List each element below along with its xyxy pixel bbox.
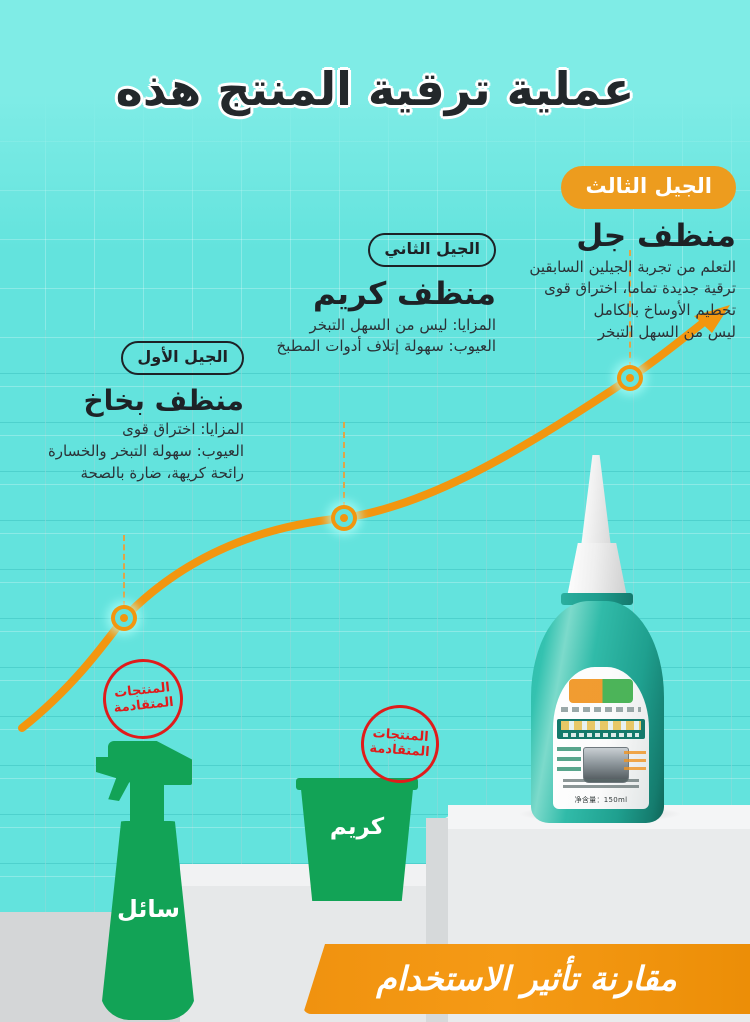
generation-3-badge-wrap: الجيل الثالث <box>498 166 736 209</box>
generation-2-line-1: المزايا: ليس من السهل التبخر <box>246 315 496 337</box>
obsolete-stamp-2-line-2: المتقادمة <box>369 741 430 760</box>
gel-label-bullets <box>557 747 581 777</box>
generation-1-line-2: العيوب: سهولة التبخر والخسارة <box>14 441 244 463</box>
spray-bottle-label: سائل <box>86 895 211 923</box>
gel-label-footnotes <box>563 779 639 789</box>
gel-label-title-en <box>563 733 639 737</box>
gel-bottle-tip <box>581 455 611 547</box>
gel-bottle-cap <box>567 543 627 597</box>
generation-block-2: الجيل الثاني منظف كريم المزايا: ليس من ا… <box>246 233 496 358</box>
generation-2-badge: الجيل الثاني <box>368 233 496 267</box>
generation-3-line-4: ليس من السهل التبخر <box>498 322 736 344</box>
generation-3-badge: الجيل الثالث <box>561 166 736 209</box>
generation-3-line-2: ترقية جديدة تماما، اختراق قوى <box>498 278 736 300</box>
connector-dash-gen2 <box>343 422 345 508</box>
generation-3-description: التعلم من تجربة الجيلين السابقين ترقية ج… <box>498 257 736 344</box>
connector-dash-gen1 <box>123 535 125 607</box>
generation-1-title: منظف بخاخ <box>14 385 244 417</box>
curve-marker-gen1 <box>111 605 137 631</box>
generation-3-line-3: تحطيم الأوساخ بالكامل <box>498 300 736 322</box>
curve-marker-gen2 <box>331 505 357 531</box>
infographic-page: عملية ترقية المنتج هذه الجيل الأول منظف … <box>0 0 750 1022</box>
generation-3-title: منظف جل <box>498 219 736 255</box>
generation-1-line-3: رائحة كريهة، ضارة بالصحة <box>14 463 244 485</box>
gel-label-title-cn <box>561 721 641 730</box>
generation-2-line-2: العيوب: سهولة إتلاف أدوات المطبخ <box>246 336 496 358</box>
cream-tub-label: كريم <box>296 814 418 840</box>
generation-1-line-1: المزايا: اختراق قوى <box>14 419 244 441</box>
bottom-banner: مقارنة تأثير الاستخدام <box>303 944 750 1014</box>
generation-2-badge-wrap: الجيل الثاني <box>246 233 496 267</box>
gel-bottle-label: 净含量：150ml <box>553 667 649 809</box>
gel-bottle-product: 净含量：150ml <box>525 455 670 823</box>
gel-label-claims-row <box>561 707 641 712</box>
gel-label-volume: 净含量：150ml <box>553 795 649 805</box>
generation-2-title: منظف كريم <box>246 277 496 313</box>
spray-bottle-illustration: سائل <box>86 723 211 1020</box>
page-title: عملية ترقية المنتج هذه <box>0 62 750 116</box>
gel-label-pot-image <box>583 747 629 783</box>
generation-1-badge-wrap: الجيل الأول <box>14 341 244 375</box>
obsolete-stamp-1-text: المنتجاتالمتقادمة <box>112 681 175 717</box>
gel-label-side-notes <box>624 751 646 775</box>
cream-tub-body <box>301 789 413 901</box>
generation-1-badge: الجيل الأول <box>121 341 244 375</box>
generation-block-3: الجيل الثالث منظف جل التعلم من تجربة الج… <box>498 166 736 344</box>
cream-tub-illustration: كريم <box>296 778 418 902</box>
generation-2-description: المزايا: ليس من السهل التبخر العيوب: سهو… <box>246 315 496 359</box>
obsolete-stamp-2-text: المنتجاتالمتقادمة <box>369 727 431 761</box>
generation-1-description: المزايا: اختراق قوى العيوب: سهولة التبخر… <box>14 419 244 484</box>
curve-marker-gen3 <box>617 365 643 391</box>
generation-block-1: الجيل الأول منظف بخاخ المزايا: اختراق قو… <box>14 341 244 484</box>
bottom-banner-text: مقارنة تأثير الاستخدام <box>376 959 677 998</box>
generation-3-line-1: التعلم من تجربة الجيلين السابقين <box>498 257 736 279</box>
gel-label-brand-logo <box>569 679 633 703</box>
